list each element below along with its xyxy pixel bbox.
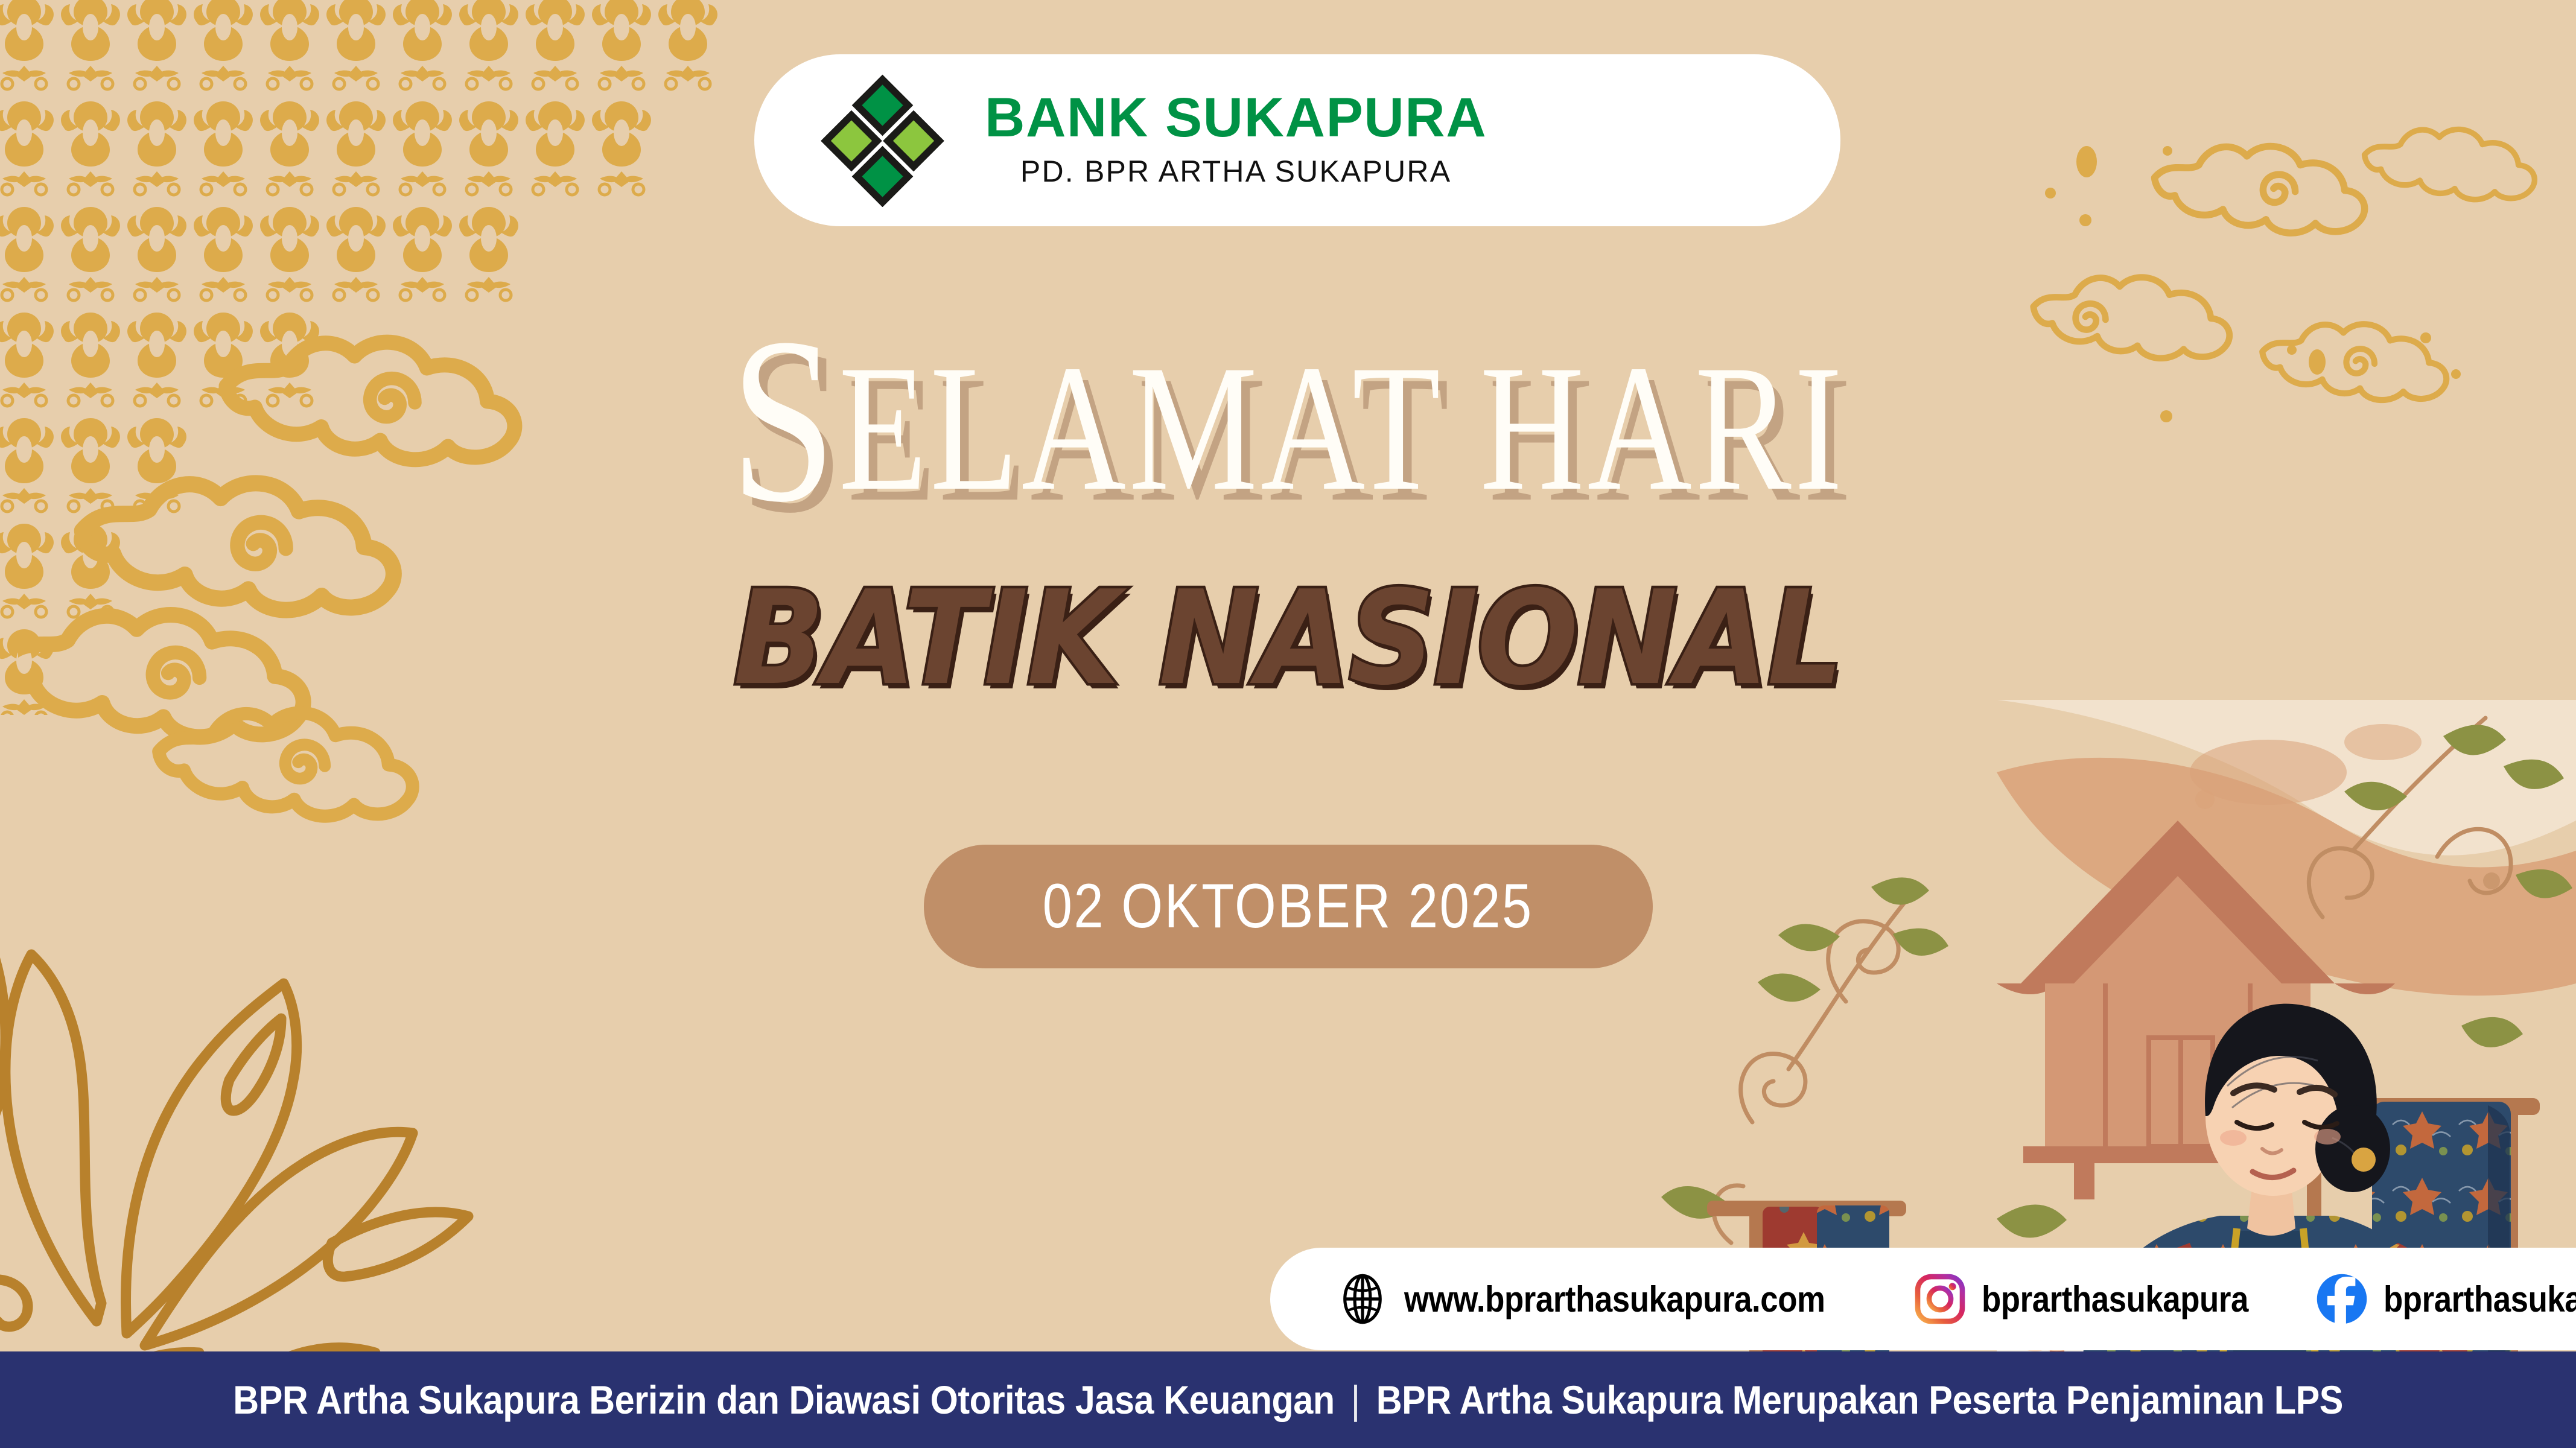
globe-icon <box>1337 1273 1388 1325</box>
lotus-line-art-motif <box>0 742 640 1436</box>
instagram-icon <box>1914 1273 1966 1325</box>
logo-title: BANK SUKAPURA <box>985 90 1487 147</box>
disclaimer-left: BPR Artha Sukapura Berizin dan Diawasi O… <box>233 1377 1334 1423</box>
batik-day-banner: BANK SUKAPURA PD. BPR ARTHA SUKAPURA SEL… <box>0 0 2576 1448</box>
disclaimer-right: BPR Artha Sukapura Merupakan Peserta Pen… <box>1376 1377 2343 1423</box>
facebook-icon <box>2316 1273 2368 1325</box>
date-badge: 02 OKTOBER 2025 <box>924 845 1653 968</box>
disclaimer-text: BPR Artha Sukapura Berizin dan Diawasi O… <box>233 1377 2343 1423</box>
date-badge-label: 02 OKTOBER 2025 <box>1043 871 1533 942</box>
headline-rest: ELAMAT HARI <box>839 328 1845 528</box>
social-contact-bar: www.bprarthasukapura.com bprarthasuka <box>1270 1248 2576 1350</box>
logo-text-block: BANK SUKAPURA PD. BPR ARTHA SUKAPURA <box>985 90 1487 190</box>
facebook-label: bprarthasukapura <box>2384 1278 2576 1320</box>
social-item-facebook[interactable]: bprarthasukapura <box>2316 1273 2576 1325</box>
disclaimer-separator: | <box>1351 1377 1360 1423</box>
social-item-website[interactable]: www.bprarthasukapura.com <box>1337 1273 1883 1325</box>
bank-logo-header[interactable]: BANK SUKAPURA PD. BPR ARTHA SUKAPURA <box>754 54 1840 226</box>
logo-subtitle: PD. BPR ARTHA SUKAPURA <box>1020 153 1451 191</box>
page-title-selamat-hari: SELAMAT HARI <box>258 326 2318 516</box>
instagram-label: bprarthasukapura <box>1982 1278 2248 1320</box>
bank-sukapura-diamond-logo <box>818 74 947 207</box>
disclaimer-bar: BPR Artha Sukapura Berizin dan Diawasi O… <box>0 1351 2576 1448</box>
social-item-instagram[interactable]: bprarthasukapura <box>1914 1273 2285 1325</box>
website-label: www.bprarthasukapura.com <box>1404 1278 1825 1320</box>
headline-dropcap: S <box>731 289 839 551</box>
page-subtitle-batik-nasional: BATIK NASIONAL <box>103 573 2473 703</box>
